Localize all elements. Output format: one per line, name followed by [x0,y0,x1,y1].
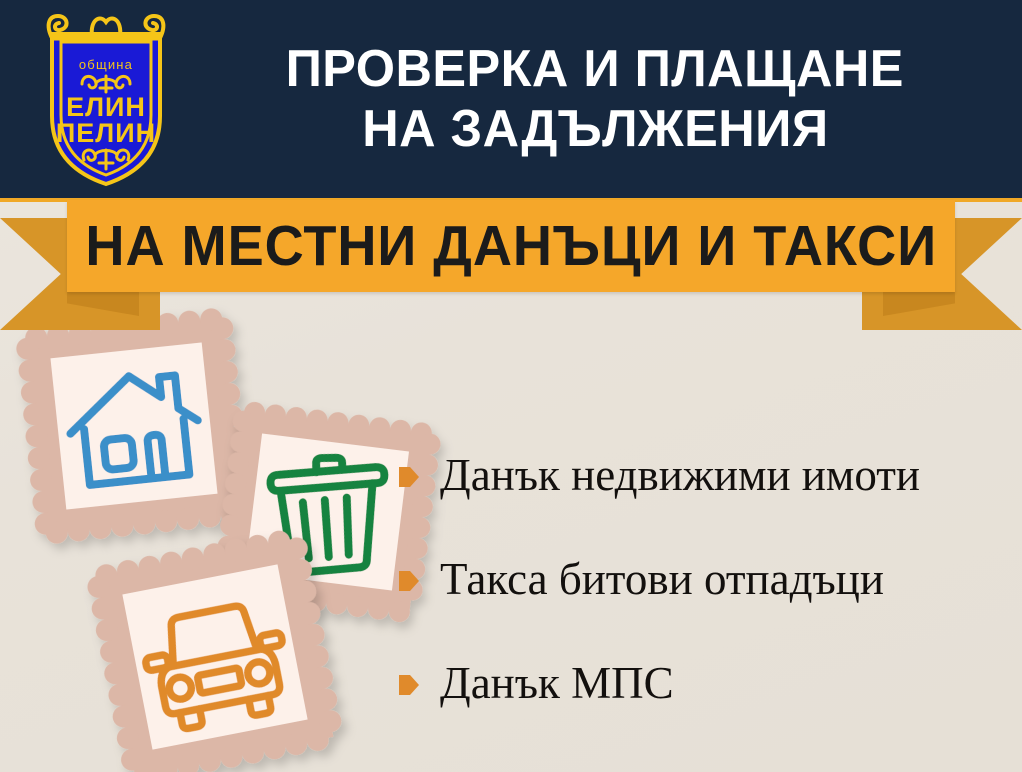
stamp-frame-car [84,526,347,772]
list-item-label: Данък МПС [440,660,674,707]
page-title-line-1: ПРОВЕРКА И ПЛАЩАНЕ [286,40,904,100]
arrow-right-bullet-icon [398,672,420,698]
poster-canvas: община ЕЛИН ПЕЛИН ПРОВЕ [0,0,1022,772]
page-title: ПРОВЕРКА И ПЛАЩАНЕ НА ЗАДЪЛЖЕНИЯ [190,20,1000,180]
arrow-right-bullet-icon [398,568,420,594]
municipality-logo: община ЕЛИН ПЕЛИН [30,8,182,190]
list-item[interactable]: Такса битови отпадъци [398,528,1008,632]
ribbon-label: НА МЕСТНИ ДАНЪЦИ И ТАКСИ [85,218,937,275]
ribbon-banner: НА МЕСТНИ ДАНЪЦИ И ТАКСИ [67,200,955,292]
list-item-label: Данък недвижими имоти [440,452,920,499]
page-title-line-2: НА ЗАДЪЛЖЕНИЯ [362,100,828,160]
arrow-right-bullet-icon [398,464,420,490]
subtitle-ribbon: НА МЕСТНИ ДАНЪЦИ И ТАКСИ [0,200,1022,320]
logo-small-text: община [79,57,133,72]
list-item[interactable]: Данък МПС [398,632,1008,736]
stamp-card-car [90,532,340,772]
tax-type-list: Данък недвижими имоти Такса битови отпад… [398,424,1008,736]
list-item[interactable]: Данък недвижими имоти [398,424,1008,528]
list-item-label: Такса битови отпадъци [440,556,884,603]
logo-line-2: ПЕЛИН [56,118,156,148]
